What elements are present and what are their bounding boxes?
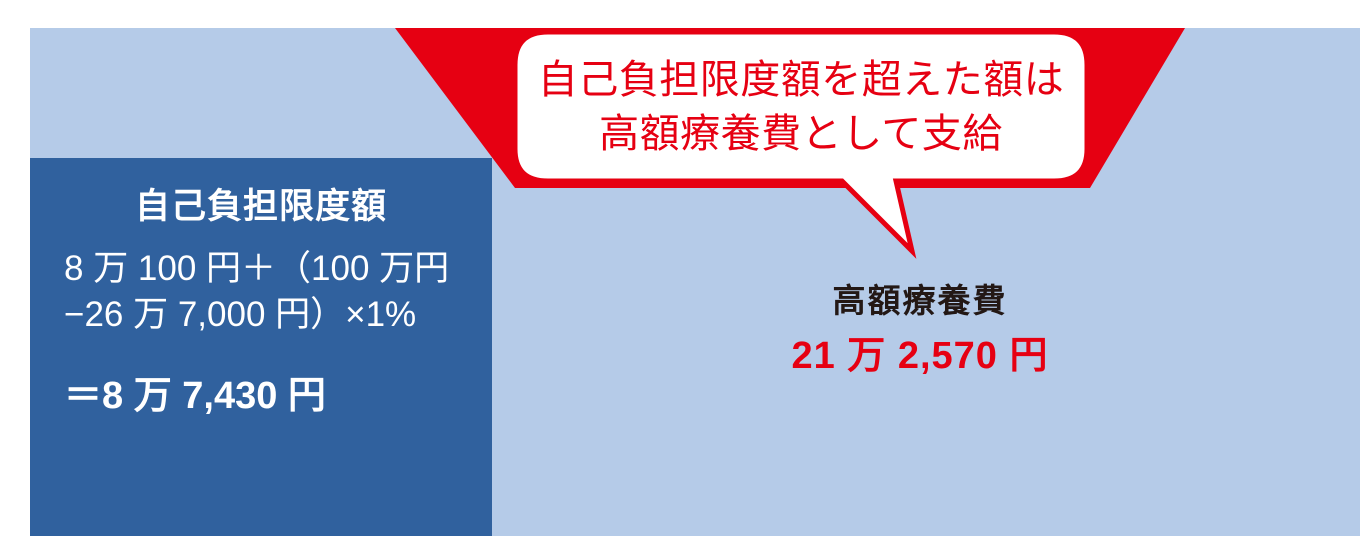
limit-box-title: 自己負担限度額 xyxy=(64,186,458,228)
benefit-title: 高額療養費 xyxy=(700,280,1140,321)
benefit-amount: 21 万 2,570 円 xyxy=(700,333,1140,381)
limit-box-result: ＝8 万 7,430 円 xyxy=(64,364,458,419)
callout-bubble-path xyxy=(515,32,1087,251)
edge-chevron-svg xyxy=(1338,380,1360,432)
limit-box-formula: 8 万 100 円＋（100 万円−26 万 7,000 円）×1% xyxy=(64,246,458,338)
self-pay-limit-box: 自己負担限度額 8 万 100 円＋（100 万円−26 万 7,000 円）×… xyxy=(30,158,492,536)
high-cost-benefit-block: 高額療養費 21 万 2,570 円 xyxy=(700,280,1140,381)
callout-bubble-svg xyxy=(512,29,1090,259)
callout-bubble: 自己負担限度額を超えた額は 高額療養費として支給 xyxy=(512,29,1090,184)
edge-chevron-icon xyxy=(1338,380,1360,432)
diagram-canvas: 自己負担限度額を超えた額は 高額療養費として支給 自己負担限度額 8 万 100… xyxy=(0,0,1360,552)
